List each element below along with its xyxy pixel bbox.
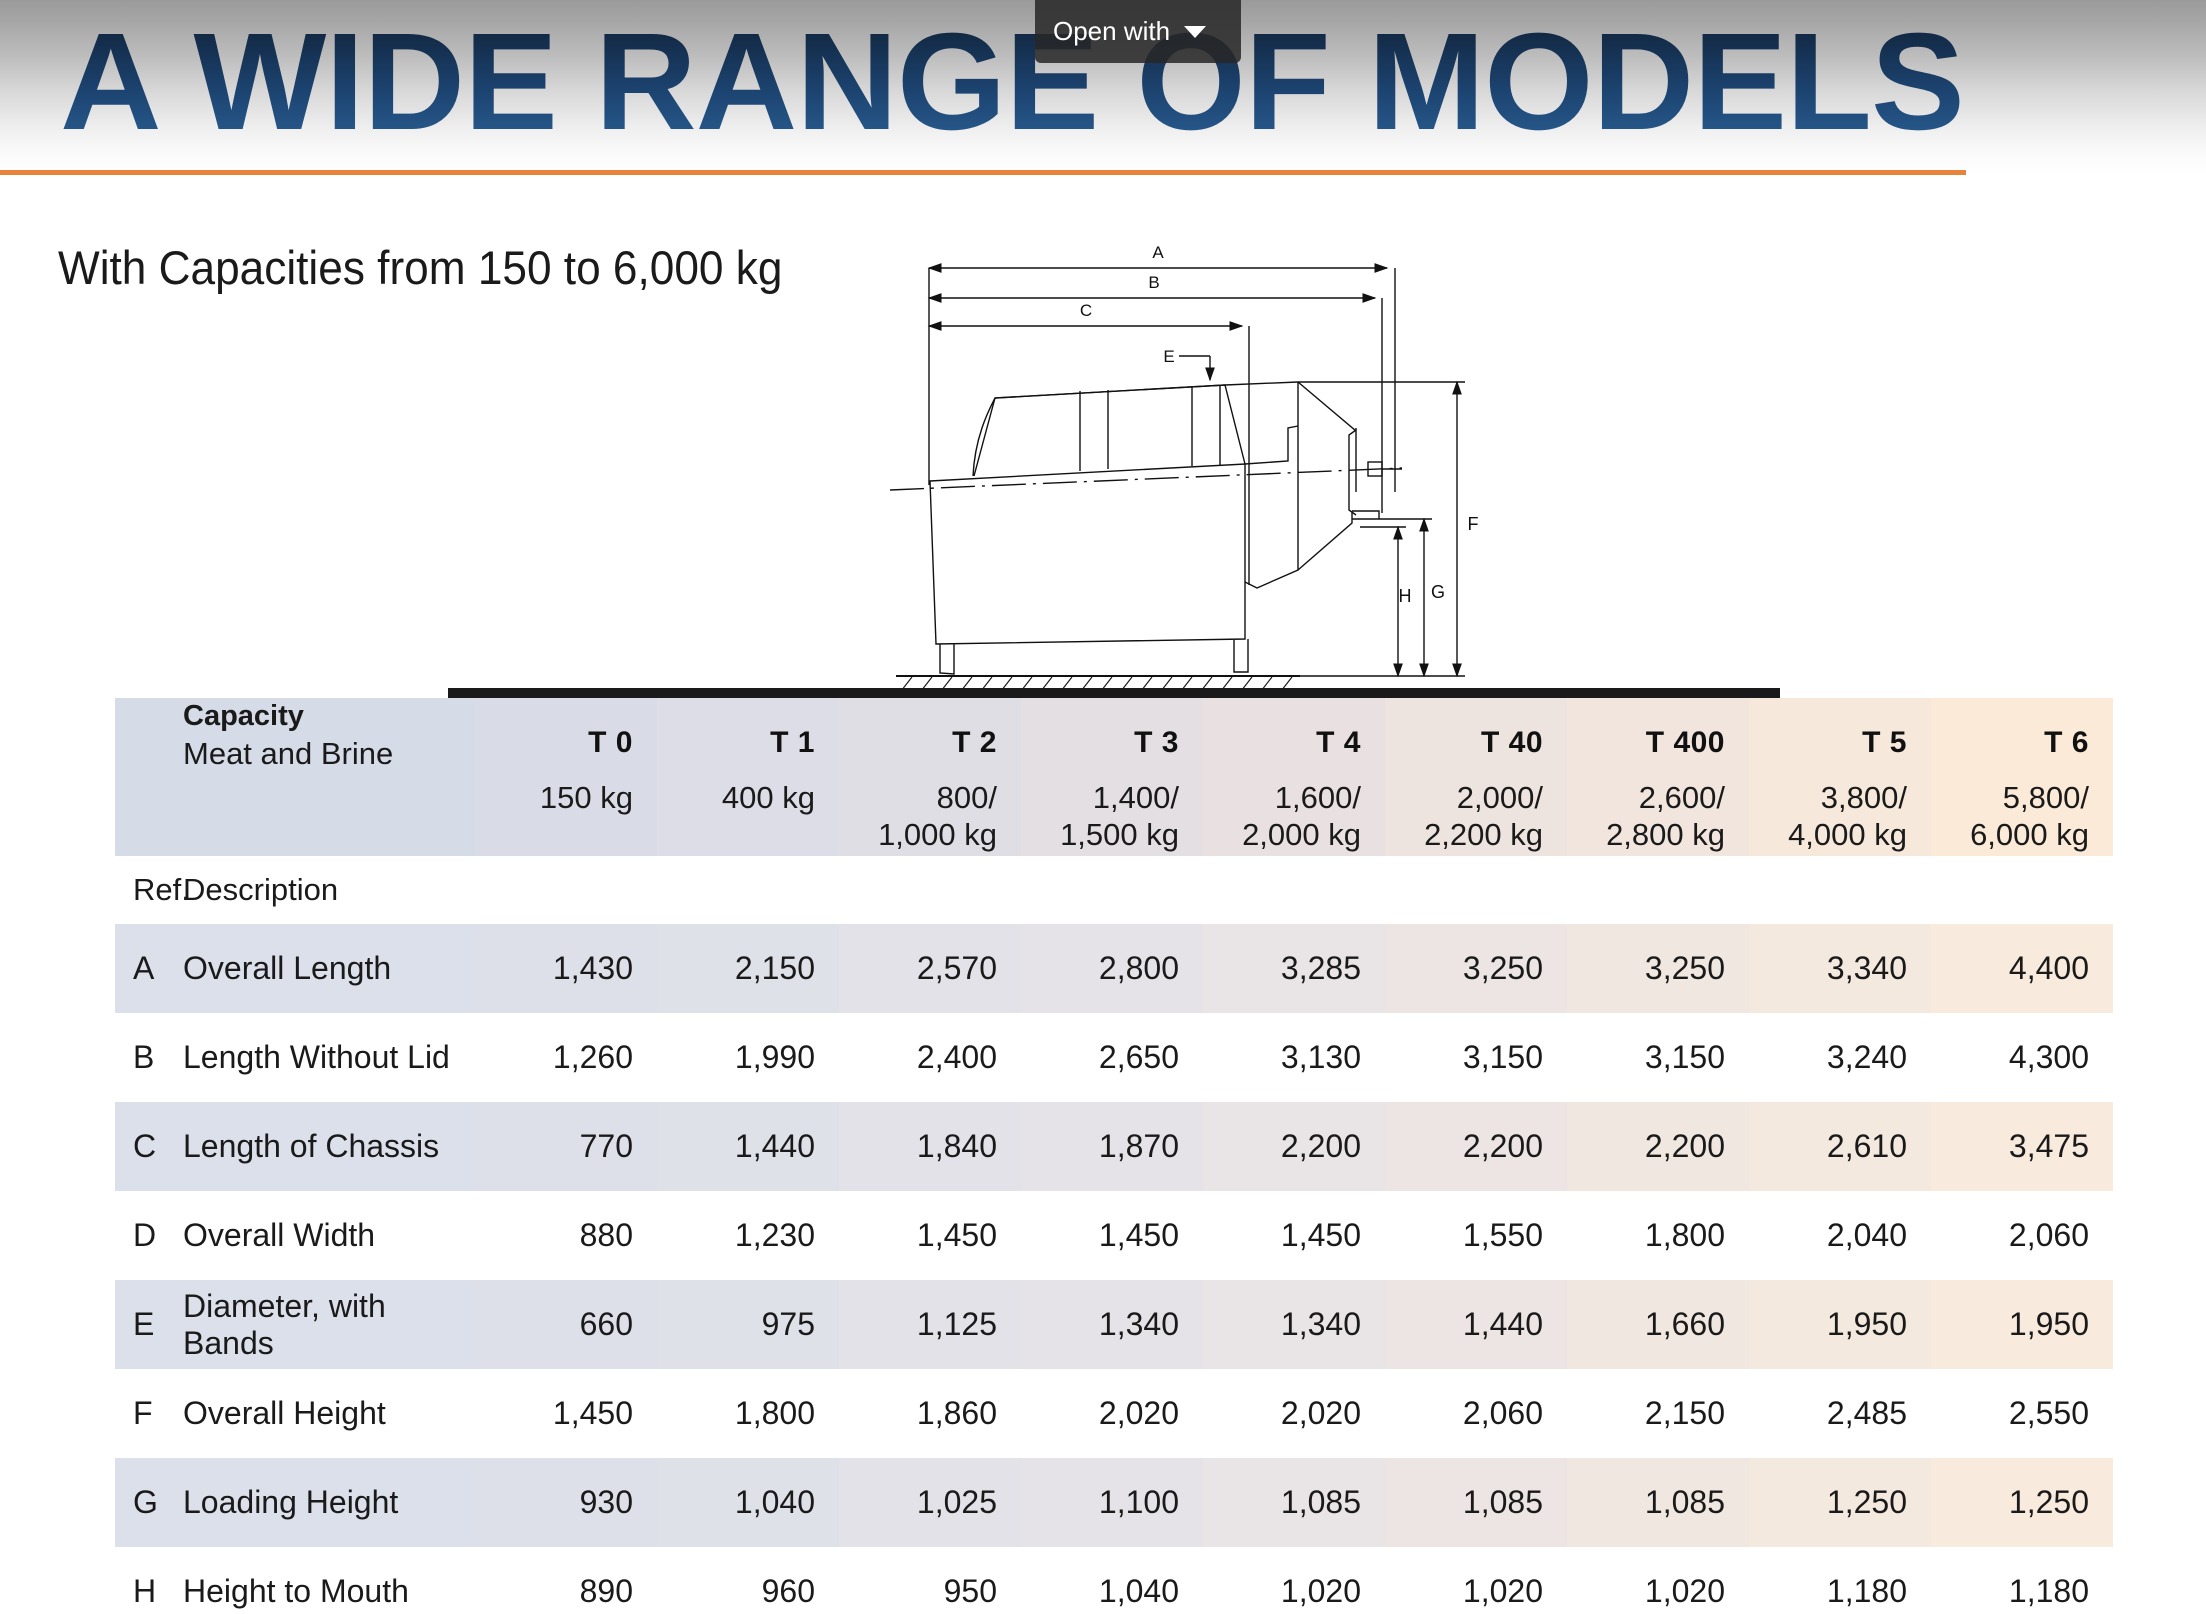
dim-label-e: E <box>1163 347 1174 366</box>
model-name: T 400 <box>1567 698 1749 760</box>
row-value: 2,060 <box>1931 1191 2113 1280</box>
row-value: 1,800 <box>657 1369 839 1458</box>
row-ref: G <box>115 1458 183 1547</box>
row-value: 2,200 <box>1385 1102 1567 1191</box>
capacity-label-cell <box>115 698 183 856</box>
model-capacity: 5,800/ 6,000 kg <box>1931 760 2113 853</box>
model-capacity: 2,000/ 2,200 kg <box>1385 760 1567 853</box>
row-value: 1,800 <box>1567 1191 1749 1280</box>
model-col-t400: T 400 2,600/ 2,800 kg <box>1567 698 1749 856</box>
row-value: 4,400 <box>1931 924 2113 1013</box>
row-value: 1,125 <box>839 1280 1021 1369</box>
row-value: 1,450 <box>1021 1191 1203 1280</box>
row-ref: B <box>115 1013 183 1102</box>
table-header: Capacity Meat and Brine T 0 150 kg T 1 4… <box>115 698 2113 924</box>
row-value: 1,025 <box>839 1458 1021 1547</box>
ref-column-header: Ref. <box>115 856 183 924</box>
model-col-t2: T 2 800/ 1,000 kg <box>839 698 1021 856</box>
model-capacity: 150 kg <box>475 760 657 816</box>
model-capacity: 1,400/ 1,500 kg <box>1021 760 1203 853</box>
row-value: 2,060 <box>1385 1369 1567 1458</box>
row-value: 1,020 <box>1203 1547 1385 1614</box>
row-value: 1,250 <box>1931 1458 2113 1547</box>
row-value: 1,100 <box>1021 1458 1203 1547</box>
model-col-t6: T 6 5,800/ 6,000 kg <box>1931 698 2113 856</box>
model-name: T 2 <box>839 698 1021 760</box>
row-value: 4,300 <box>1931 1013 2113 1102</box>
model-name: T 1 <box>657 698 839 760</box>
model-capacity: 1,600/ 2,000 kg <box>1203 760 1385 853</box>
spec-table: Capacity Meat and Brine T 0 150 kg T 1 4… <box>115 698 2113 1614</box>
row-value: 2,040 <box>1749 1191 1931 1280</box>
row-description: Diameter, with Bands <box>183 1280 475 1369</box>
row-value: 3,130 <box>1203 1013 1385 1102</box>
row-value: 880 <box>475 1191 657 1280</box>
table-body: A Overall Length 1,430 2,150 2,570 2,800… <box>115 924 2113 1614</box>
row-description: Length of Chassis <box>183 1102 475 1191</box>
row-value: 2,200 <box>1567 1102 1749 1191</box>
dim-label-b: B <box>1148 273 1159 292</box>
row-ref: D <box>115 1191 183 1280</box>
row-value: 1,550 <box>1385 1191 1567 1280</box>
column-header-row: Ref. Description <box>115 856 2113 924</box>
row-value: 1,950 <box>1931 1280 2113 1369</box>
row-value: 1,040 <box>1021 1547 1203 1614</box>
table-row: H Height to Mouth 890 960 950 1,040 1,02… <box>115 1547 2113 1614</box>
row-value: 1,440 <box>1385 1280 1567 1369</box>
row-value: 2,400 <box>839 1013 1021 1102</box>
model-capacity: 3,800/ 4,000 kg <box>1749 760 1931 853</box>
row-value: 950 <box>839 1547 1021 1614</box>
row-value: 3,150 <box>1567 1013 1749 1102</box>
row-value: 2,550 <box>1931 1369 2113 1458</box>
accent-rule <box>0 170 1966 175</box>
row-value: 1,450 <box>1203 1191 1385 1280</box>
chevron-down-icon[interactable] <box>1184 26 1206 38</box>
row-value: 2,610 <box>1749 1102 1931 1191</box>
model-col-t5: T 5 3,800/ 4,000 kg <box>1749 698 1931 856</box>
table-row: D Overall Width 880 1,230 1,450 1,450 1,… <box>115 1191 2113 1280</box>
model-col-t1: T 1 400 kg <box>657 698 839 856</box>
subtitle: With Capacities from 150 to 6,000 kg <box>58 240 782 295</box>
row-value: 1,250 <box>1749 1458 1931 1547</box>
dim-label-f: F <box>1468 514 1479 534</box>
capacity-header-row: Capacity Meat and Brine T 0 150 kg T 1 4… <box>115 698 2113 856</box>
page-title: A WIDE RANGE OF MODELS <box>60 0 1964 170</box>
row-ref: C <box>115 1102 183 1191</box>
row-value: 1,020 <box>1385 1547 1567 1614</box>
header-spacer <box>475 856 2113 924</box>
model-name: T 6 <box>1931 698 2113 760</box>
row-description: Length Without Lid <box>183 1013 475 1102</box>
model-col-t4: T 4 1,600/ 2,000 kg <box>1203 698 1385 856</box>
table-row: C Length of Chassis 770 1,440 1,840 1,87… <box>115 1102 2113 1191</box>
row-description: Height to Mouth <box>183 1547 475 1614</box>
row-value: 1,085 <box>1567 1458 1749 1547</box>
row-value: 2,020 <box>1203 1369 1385 1458</box>
row-value: 1,990 <box>657 1013 839 1102</box>
row-value: 3,250 <box>1567 924 1749 1013</box>
row-value: 2,150 <box>657 924 839 1013</box>
row-value: 3,340 <box>1749 924 1931 1013</box>
row-value: 1,340 <box>1021 1280 1203 1369</box>
row-value: 2,020 <box>1021 1369 1203 1458</box>
row-value: 3,285 <box>1203 924 1385 1013</box>
row-value: 1,180 <box>1931 1547 2113 1614</box>
model-name: T 3 <box>1021 698 1203 760</box>
row-value: 1,230 <box>657 1191 839 1280</box>
row-value: 960 <box>657 1547 839 1614</box>
table-row: F Overall Height 1,450 1,800 1,860 2,020… <box>115 1369 2113 1458</box>
row-value: 975 <box>657 1280 839 1369</box>
row-value: 2,485 <box>1749 1369 1931 1458</box>
row-value: 890 <box>475 1547 657 1614</box>
row-value: 1,440 <box>657 1102 839 1191</box>
dim-label-c: C <box>1080 301 1092 320</box>
row-value: 1,950 <box>1749 1280 1931 1369</box>
row-value: 2,650 <box>1021 1013 1203 1102</box>
row-value: 2,200 <box>1203 1102 1385 1191</box>
row-value: 3,475 <box>1931 1102 2113 1191</box>
open-with-button[interactable]: Open with <box>1035 0 1241 63</box>
row-value: 1,450 <box>839 1191 1021 1280</box>
description-column-header: Description <box>183 856 475 924</box>
row-description: Overall Width <box>183 1191 475 1280</box>
row-value: 660 <box>475 1280 657 1369</box>
row-ref: E <box>115 1280 183 1369</box>
model-capacity: 400 kg <box>657 760 839 816</box>
model-col-t0: T 0 150 kg <box>475 698 657 856</box>
table-row: G Loading Height 930 1,040 1,025 1,100 1… <box>115 1458 2113 1547</box>
table-row: A Overall Length 1,430 2,150 2,570 2,800… <box>115 924 2113 1013</box>
table-row: B Length Without Lid 1,260 1,990 2,400 2… <box>115 1013 2113 1102</box>
open-with-label: Open with <box>1053 16 1170 47</box>
table-row: E Diameter, with Bands 660 975 1,125 1,3… <box>115 1280 2113 1369</box>
row-description: Overall Length <box>183 924 475 1013</box>
row-value: 3,250 <box>1385 924 1567 1013</box>
row-value: 1,085 <box>1203 1458 1385 1547</box>
row-value: 1,430 <box>475 924 657 1013</box>
table-top-rule <box>448 688 1780 698</box>
row-description: Loading Height <box>183 1458 475 1547</box>
model-capacity: 800/ 1,000 kg <box>839 760 1021 853</box>
model-name: T 5 <box>1749 698 1931 760</box>
capacity-subtitle: Meat and Brine <box>183 736 393 771</box>
dim-label-h: H <box>1399 586 1412 606</box>
dim-label-g: G <box>1431 582 1445 602</box>
row-value: 1,040 <box>657 1458 839 1547</box>
row-value: 1,660 <box>1567 1280 1749 1369</box>
technical-drawing: A B C E <box>890 230 1530 705</box>
capacity-title: Capacity <box>183 698 475 735</box>
row-value: 3,240 <box>1749 1013 1931 1102</box>
row-value: 1,870 <box>1021 1102 1203 1191</box>
row-ref: A <box>115 924 183 1013</box>
model-name: T 40 <box>1385 698 1567 760</box>
page-root: A WIDE RANGE OF MODELS Open with With Ca… <box>0 0 2206 1614</box>
row-description: Overall Height <box>183 1369 475 1458</box>
row-value: 1,340 <box>1203 1280 1385 1369</box>
row-value: 3,150 <box>1385 1013 1567 1102</box>
row-value: 2,800 <box>1021 924 1203 1013</box>
row-value: 1,180 <box>1749 1547 1931 1614</box>
model-col-t3: T 3 1,400/ 1,500 kg <box>1021 698 1203 856</box>
row-value: 2,570 <box>839 924 1021 1013</box>
model-name: T 0 <box>475 698 657 760</box>
row-value: 1,450 <box>475 1369 657 1458</box>
model-name: T 4 <box>1203 698 1385 760</box>
model-col-t40: T 40 2,000/ 2,200 kg <box>1385 698 1567 856</box>
row-ref: H <box>115 1547 183 1614</box>
row-ref: F <box>115 1369 183 1458</box>
row-value: 1,860 <box>839 1369 1021 1458</box>
drawing-svg: A B C E <box>890 230 1530 705</box>
row-value: 930 <box>475 1458 657 1547</box>
row-value: 1,840 <box>839 1102 1021 1191</box>
dim-label-a: A <box>1152 243 1164 262</box>
row-value: 1,085 <box>1385 1458 1567 1547</box>
model-capacity: 2,600/ 2,800 kg <box>1567 760 1749 853</box>
spec-table-container: Capacity Meat and Brine T 0 150 kg T 1 4… <box>115 698 2113 1614</box>
row-value: 770 <box>475 1102 657 1191</box>
row-value: 1,260 <box>475 1013 657 1102</box>
row-value: 2,150 <box>1567 1369 1749 1458</box>
row-value: 1,020 <box>1567 1547 1749 1614</box>
capacity-label: Capacity Meat and Brine <box>183 698 475 856</box>
